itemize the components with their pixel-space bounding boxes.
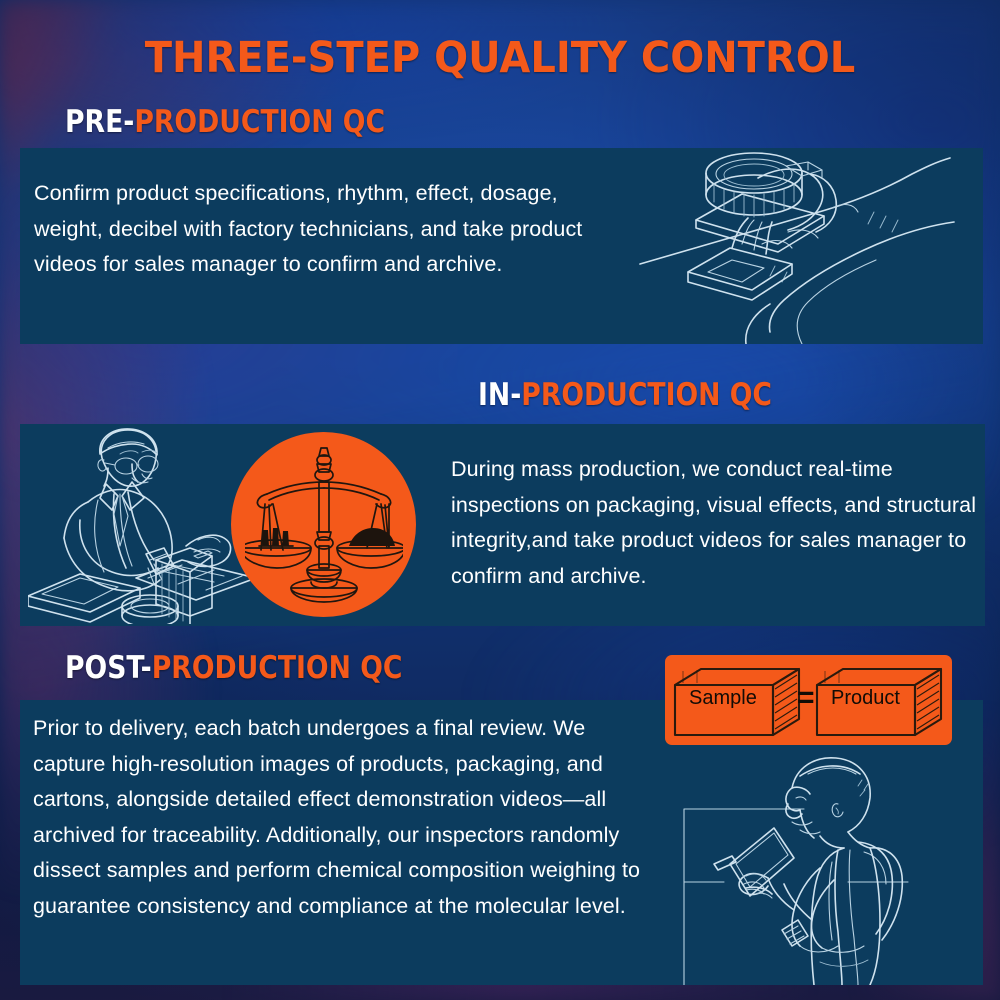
section-heading-post-production: POST-PRODUCTION QC [65, 650, 402, 686]
infographic-canvas: THREE-STEP QUALITY CONTROL PRE-PRODUCTIO… [0, 0, 1000, 1000]
section-heading-in-production: IN-PRODUCTION QC [478, 377, 772, 413]
worker-inspecting-products-sketch [28, 428, 258, 624]
sample-equals-product-callout: Sample = Product [665, 655, 952, 745]
product-label: Product [831, 687, 900, 710]
sample-label: Sample [689, 687, 757, 710]
heading-prefix: PRE [65, 104, 123, 140]
section-heading-pre-production: PRE-PRODUCTION QC [65, 104, 385, 140]
heading-suffix: PRODUCTION QC [521, 377, 772, 413]
body-text-pre-production: Confirm product specifications, rhythm, … [34, 176, 594, 283]
heading-dash: - [141, 650, 152, 686]
heading-prefix: POST [65, 650, 141, 686]
inspector-with-tablet-sketch [672, 752, 962, 985]
hand-holding-product-sketch [636, 152, 966, 344]
balance-scale-icon [231, 432, 416, 617]
body-text-in-production: During mass production, we conduct real-… [451, 452, 981, 594]
heading-dash: - [510, 377, 521, 413]
body-text-post-production: Prior to delivery, each batch undergoes … [33, 711, 653, 924]
heading-suffix: PRODUCTION QC [134, 104, 385, 140]
heading-dash: - [123, 104, 134, 140]
equals-sign: = [797, 683, 815, 713]
page-title: THREE-STEP QUALITY CONTROL [35, 33, 965, 83]
heading-suffix: PRODUCTION QC [152, 650, 403, 686]
heading-prefix: IN [478, 377, 510, 413]
